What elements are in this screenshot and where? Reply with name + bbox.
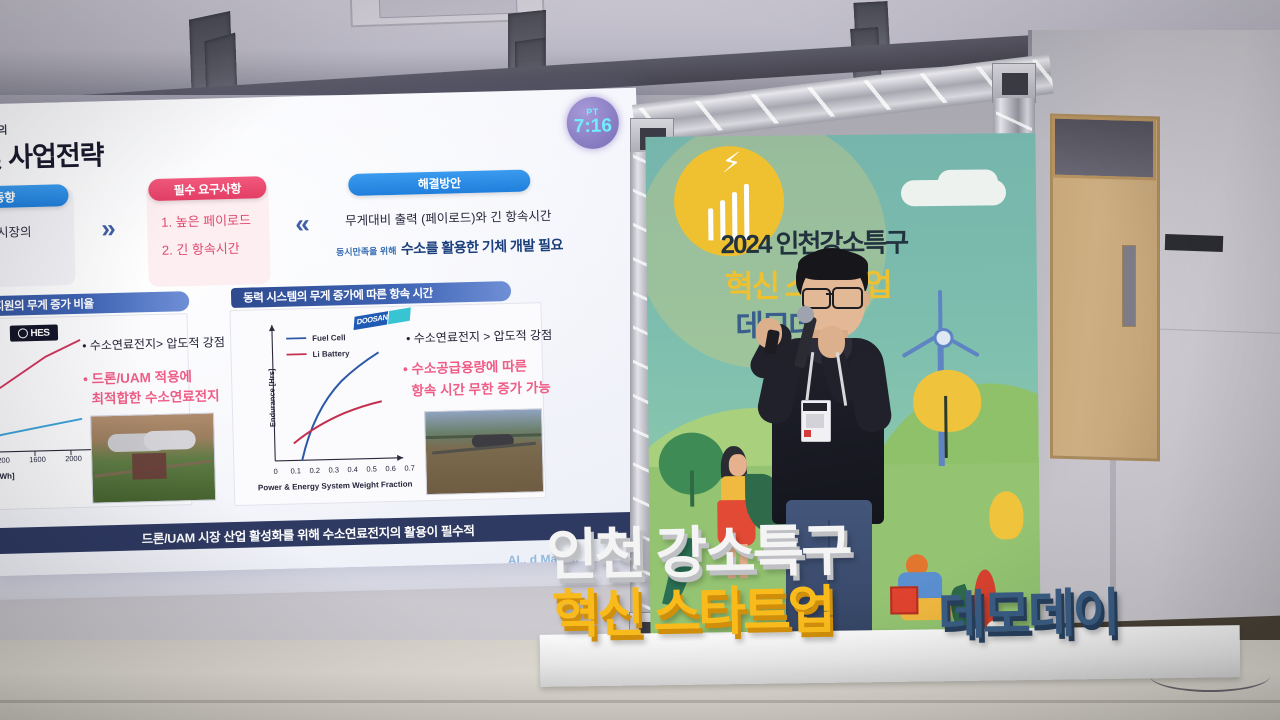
market-trend-line2: 인 활성화 기대 (0, 248, 78, 275)
left-chart-xlabel: Energy [Wh] (0, 472, 15, 482)
speaker-hair-front (798, 250, 868, 280)
solution-pill-label: 해결방안 (418, 174, 461, 192)
right-chart-xtick-6: 0.6 (385, 464, 396, 473)
slide-title: 장 및 사업전략 (0, 133, 104, 176)
right-chart-legend-2: Li Battery (312, 349, 349, 359)
right-chart-xtick-1: 0.1 (290, 466, 301, 475)
tree-green-trunk (690, 471, 694, 507)
market-trend-pill-label: 시장동향 (0, 188, 15, 206)
hes-logo: HES (10, 324, 58, 341)
floor-letters-blue: 데모데이 (937, 570, 1118, 648)
door-transom-window (1052, 116, 1156, 181)
solution-line-2-big: 수소를 활용한 기체 개발 필요 (401, 237, 563, 257)
speaker-right-hand (818, 326, 845, 358)
requirement-item-2: 2. 긴 항속시간 (162, 238, 240, 263)
microphone-head-icon (797, 306, 814, 323)
solution-line-2-small: 동시만족을 위해 (336, 246, 397, 258)
right-bullet-2-line1: • 수소공급용량에 따른 (403, 357, 527, 380)
screenshot-stage: 및 문제 정의 장 및 사업전략 PT 7:16 시장동향 , 드론 및 UAM… (0, 0, 1280, 720)
market-trend-line1: , 드론 및 UAM 시장의 (0, 220, 78, 247)
left-bullet-2-line2: 최적합한 수소연료전지 (91, 386, 219, 409)
solution-line-1: 무게대비 출력 (페이로드)와 긴 항속시간 (345, 205, 552, 229)
market-trend-pill: 시장동향 (0, 184, 69, 210)
floor-tile-line (0, 700, 1280, 703)
right-chart-ylabel: Endurance [Hrs] (267, 369, 277, 428)
requirements-pill-label: 필수 요구사항 (173, 179, 241, 198)
projected-slide: 및 문제 정의 장 및 사업전략 PT 7:16 시장동향 , 드론 및 UAM… (0, 88, 648, 577)
requirement-item-1: 1. 높은 페이로드 (161, 210, 251, 235)
flow-arrow-right-icon: » (101, 213, 116, 244)
floor-letters-yellow: 혁신 스타트업 (551, 568, 833, 648)
lightning-bolt-icon: ⚡ (721, 146, 741, 179)
right-chart-xtick-5: 0.5 (366, 464, 377, 473)
right-panel-drone-photo (424, 408, 544, 495)
pt-timer-badge: PT 7:16 (566, 96, 619, 149)
speaker-badge-header-strip (803, 403, 827, 411)
requirements-pill: 필수 요구사항 (148, 176, 267, 201)
illustration-woman-face (729, 454, 747, 476)
speaker-badge-accent (804, 430, 811, 437)
right-chart-xtick-4: 0.4 (347, 465, 358, 474)
illustration-red-box (890, 586, 918, 614)
tree-small-crown (989, 491, 1024, 539)
wind-turbine-hub (933, 328, 953, 348)
drone-wires (132, 453, 167, 480)
right-chart-legend-1: Fuel Cell (312, 333, 346, 343)
left-chart-xtick-2: 1600 (29, 455, 46, 464)
door-vision-panel (1122, 245, 1136, 327)
pt-timer-time: 7:16 (574, 116, 613, 138)
tree-yellow-trunk (944, 396, 948, 458)
speaker-badge-photo-area (806, 414, 824, 428)
right-chart-xtick-3: 0.3 (328, 465, 339, 474)
flow-arrow-left-icon: « (295, 208, 310, 239)
truss-plate-top-right (992, 63, 1036, 103)
cloud-2 (938, 169, 998, 194)
left-bullet-1: • 수소연료전지> 압도적 강점 (82, 333, 225, 354)
drone-tank-shape-2 (143, 430, 195, 450)
speaker-glasses-bridge (826, 293, 834, 295)
hes-logo-mark-icon (18, 328, 28, 338)
right-chart-xtick-0: 0 (273, 467, 277, 476)
left-chart-xtick-1: 1200 (0, 456, 10, 465)
right-bullet-2-line2: 항속 시간 무한 증가 가능 (411, 378, 551, 402)
left-chart-xtick-3: 2000 (65, 454, 82, 463)
growth-arrow-1 (708, 208, 713, 240)
solution-line-2: 동시만족을 위해 수소를 활용한 기체 개발 필요 (336, 235, 563, 261)
hes-logo-text: HES (30, 327, 49, 338)
solution-pill: 해결방안 (348, 169, 530, 196)
wall-vent (1165, 234, 1224, 252)
slide-footer-text: 드론/UAM 시장 산업 활성화를 위해 수소연료전지의 활용이 필수적 (141, 519, 474, 546)
right-chart-xtick-2: 0.2 (309, 466, 320, 475)
right-chart-xtick-7: 0.7 (404, 463, 415, 472)
speaker-glasses-right-lens-icon (832, 287, 863, 309)
left-panel-drone-photo (90, 413, 216, 504)
